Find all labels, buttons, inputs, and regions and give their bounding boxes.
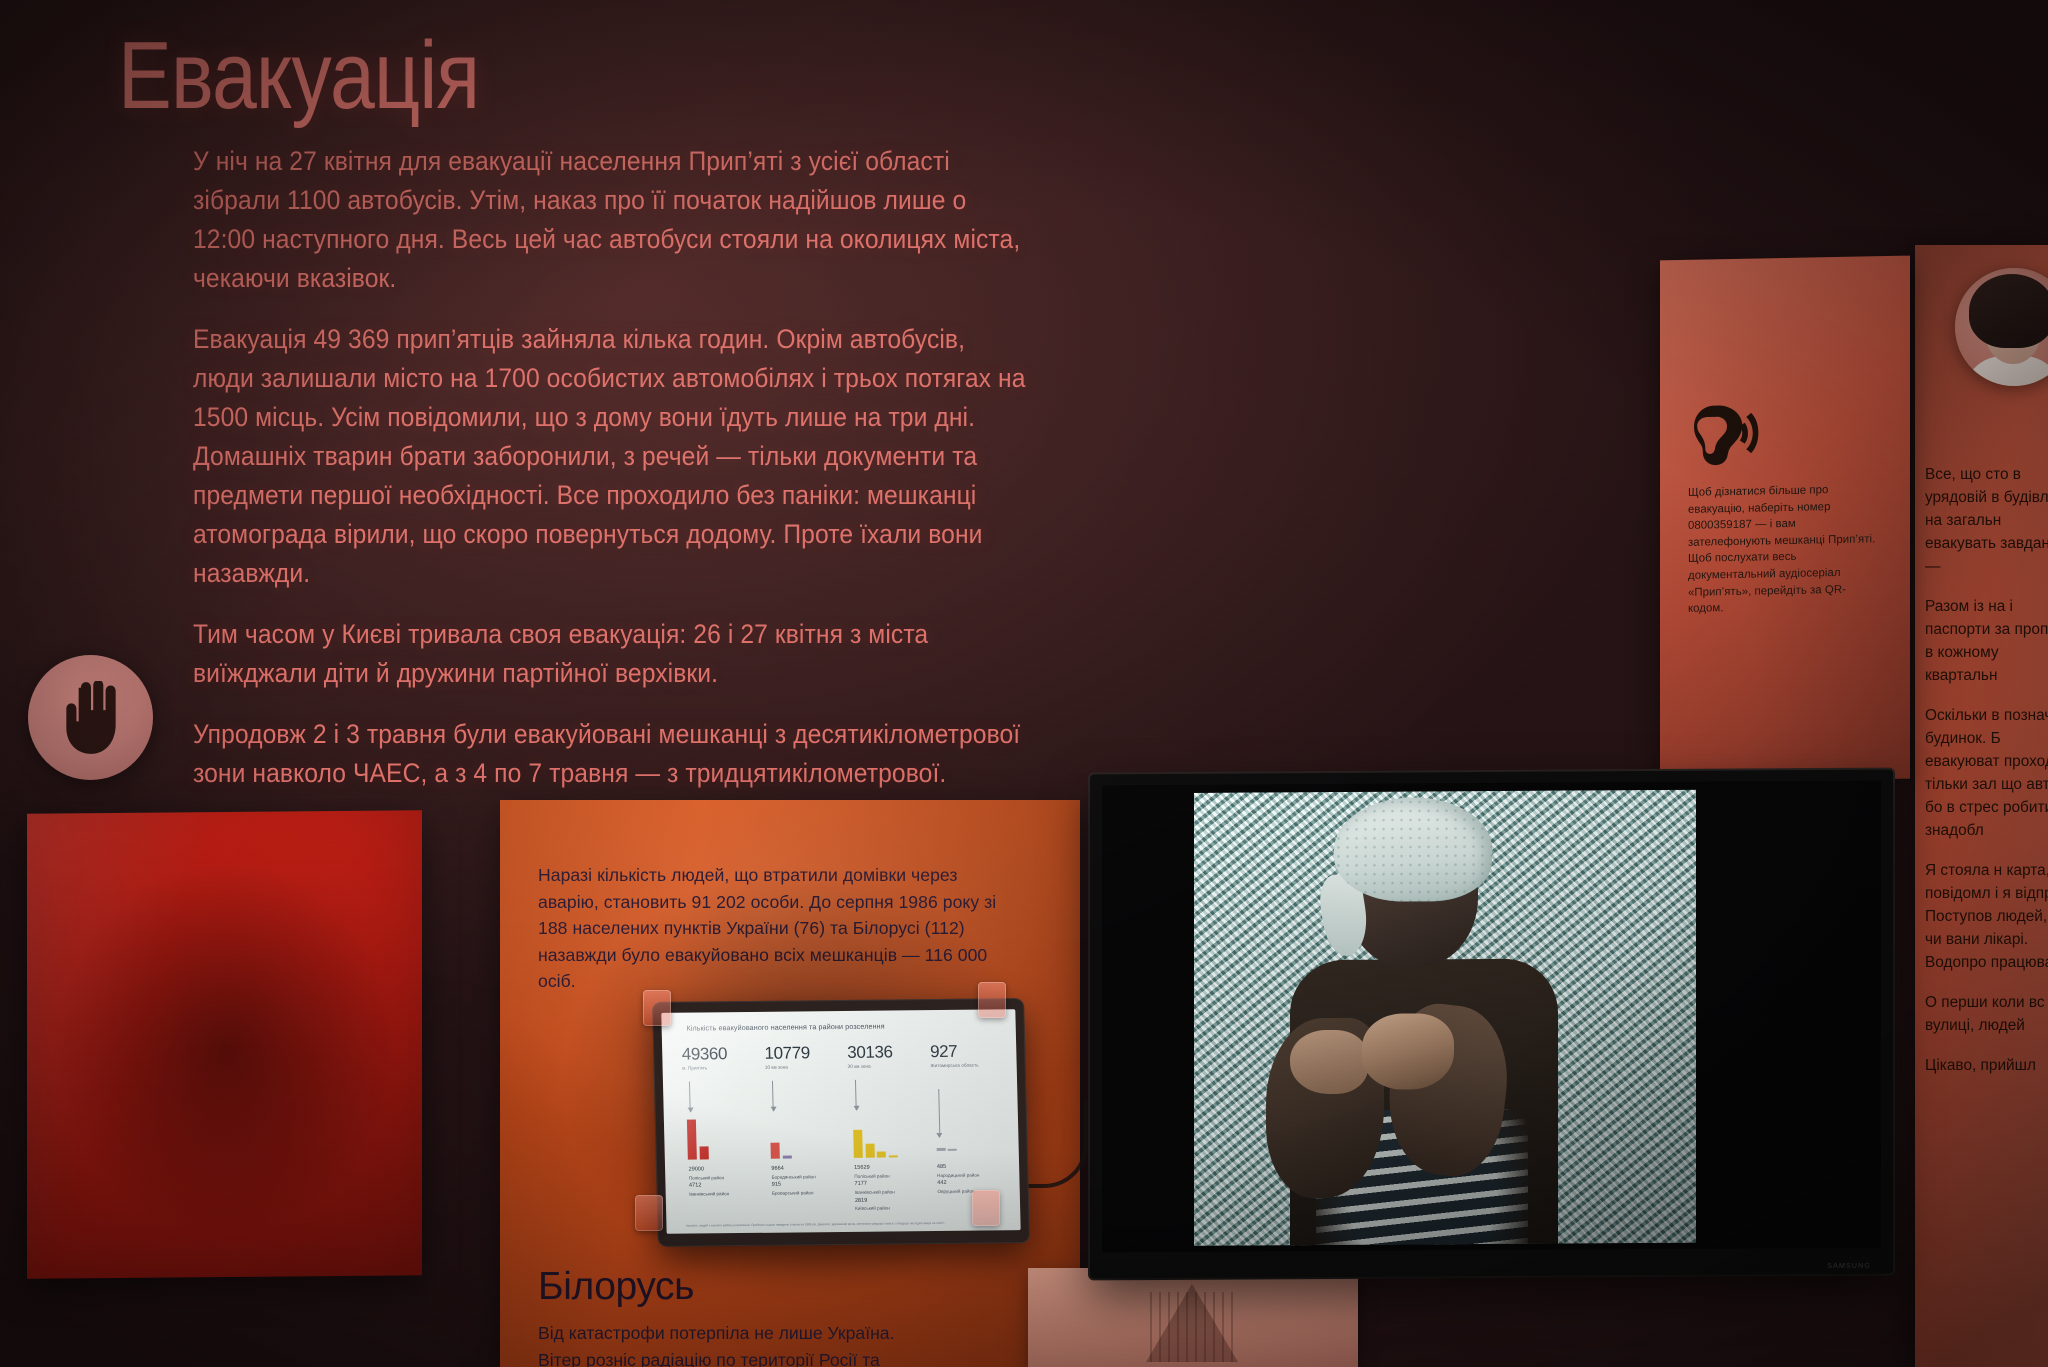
testimony-paragraph: Цікаво, прийшл bbox=[1925, 1054, 2048, 1077]
chart-values: 9664 Бородянський район 915 Броварський … bbox=[771, 1164, 816, 1197]
tablet-mount-clip bbox=[643, 990, 671, 1026]
wall-paragraph: Евакуація 49 369 прип’ятців зайняла кіль… bbox=[193, 320, 1030, 593]
chart-value: 915 bbox=[772, 1182, 781, 1188]
wall-monitor: SAMSUNG bbox=[1090, 770, 1893, 1279]
wall-paragraph: Тим часом у Києві тривала своя евакуація… bbox=[193, 615, 1030, 693]
chart-value-label: Бородянський район bbox=[771, 1174, 815, 1179]
page-title: Евакуація bbox=[118, 28, 479, 124]
chart-value: 442 bbox=[937, 1180, 946, 1186]
testimony-paragraph: Я стояла н карта, і повідомл і я відпра … bbox=[1925, 859, 2048, 974]
arrow-down-icon bbox=[772, 1081, 774, 1111]
right-testimony-text: Все, що сто в урядовій в будівлі мі на з… bbox=[1925, 463, 2048, 1094]
orange-panel-intro-text: Наразі кількість людей, що втратили домі… bbox=[538, 862, 1010, 995]
chart-bar bbox=[877, 1152, 886, 1158]
monitor-brand-label: SAMSUNG bbox=[1827, 1263, 1871, 1270]
chart-bars bbox=[853, 1118, 897, 1158]
avatar bbox=[1955, 268, 2048, 386]
stop-hand-icon bbox=[55, 681, 127, 755]
chart-bars bbox=[687, 1120, 708, 1160]
arrow-down-icon bbox=[938, 1089, 940, 1137]
belarus-body-text: Від катастрофи потерпіла не лише Україна… bbox=[538, 1320, 938, 1367]
chart-value: 7177 bbox=[854, 1181, 867, 1187]
chart-value-label: Народицький район bbox=[937, 1172, 979, 1177]
right-testimony-panel: Все, що сто в урядовій в будівлі мі на з… bbox=[1915, 245, 2048, 1367]
monitor-screen bbox=[1102, 781, 1881, 1253]
chart-total: 30136 bbox=[847, 1043, 923, 1061]
chart-value: 9664 bbox=[771, 1166, 784, 1172]
video-shading bbox=[1194, 790, 1696, 1246]
avatar-hair bbox=[1969, 274, 2048, 348]
chart-column: 49360 м. Прип’ять 29000 Поліський район … bbox=[682, 1045, 762, 1205]
chart-bars bbox=[770, 1119, 791, 1159]
chart-bar bbox=[853, 1130, 863, 1158]
chart-value-label: Броварський район bbox=[772, 1190, 814, 1195]
arrow-down-icon bbox=[855, 1080, 857, 1110]
audio-info-panel: Щоб дізнатися більше про евакуацію, набе… bbox=[1660, 256, 1910, 784]
testimony-paragraph: Все, що сто в урядовій в будівлі мі на з… bbox=[1925, 463, 2048, 578]
chart-bar bbox=[700, 1147, 709, 1160]
arrow-down-icon bbox=[689, 1082, 691, 1112]
cooling-tower-texture bbox=[1150, 1292, 1234, 1362]
tablet-screen[interactable]: Кількість евакуйованого населення та рай… bbox=[661, 1009, 1020, 1234]
wall-paragraph: У ніч на 27 квітня для евакуації населен… bbox=[193, 142, 1030, 298]
chart-column: 10779 10 км зона 9664 Бородянський район… bbox=[764, 1044, 844, 1204]
chart-value: 485 bbox=[937, 1164, 946, 1170]
chart-category: м. Прип’ять bbox=[682, 1065, 758, 1071]
tablet-mount-clip bbox=[978, 982, 1006, 1018]
chart-bar bbox=[771, 1143, 780, 1159]
chart-value-label: Поліський район bbox=[854, 1173, 889, 1178]
testimony-paragraph: О перши коли вс вулиці, людей bbox=[1925, 991, 2048, 1037]
tablet-mount-clip bbox=[972, 1190, 1000, 1226]
red-display-panel bbox=[27, 810, 422, 1278]
chart-footnote: Кількість людей з кожного району розселе… bbox=[686, 1220, 1006, 1228]
wall-body-text: У ніч на 27 квітня для евакуації населен… bbox=[193, 142, 1030, 793]
chart-value-label: Іванківський район bbox=[855, 1189, 895, 1194]
chart-value-label: Овруцький район bbox=[937, 1189, 974, 1194]
chart-bar bbox=[687, 1120, 697, 1160]
chart-total: 927 bbox=[930, 1042, 1006, 1060]
chart-value: 4712 bbox=[689, 1183, 702, 1189]
ear-listening-icon bbox=[1690, 403, 1764, 466]
testimony-paragraph: Разом із на і паспорти за прописк в кожн… bbox=[1925, 595, 2048, 687]
testimony-paragraph: Оскільки в позначки, будинок. Б евакуюва… bbox=[1925, 704, 2048, 842]
archival-video-frame bbox=[1194, 790, 1696, 1246]
do-not-touch-badge bbox=[28, 655, 153, 780]
chart-bar bbox=[888, 1156, 897, 1158]
exhibition-wall-scene: Евакуація У ніч на 27 квітня для евакуац… bbox=[0, 0, 2048, 1367]
chart-value: 15629 bbox=[854, 1165, 870, 1171]
chart-bar bbox=[865, 1144, 874, 1158]
chart-bar bbox=[936, 1148, 945, 1151]
chart-columns: 49360 м. Прип’ять 29000 Поліський район … bbox=[682, 1042, 1010, 1204]
chart-value-label: Поліський район bbox=[689, 1175, 724, 1180]
chart-values: 29000 Поліський район 4712 Іванківський … bbox=[688, 1165, 729, 1198]
chart-bar bbox=[948, 1149, 957, 1151]
audio-info-text: Щоб дізнатися більше про евакуацію, набе… bbox=[1688, 481, 1878, 617]
chart-bar bbox=[783, 1156, 792, 1159]
chart-value-label: Київський район bbox=[855, 1206, 890, 1211]
chart-total: 10779 bbox=[764, 1044, 840, 1062]
small-photo-placard bbox=[1028, 1268, 1358, 1367]
chart-value: 29000 bbox=[689, 1167, 705, 1173]
chart-value: 2819 bbox=[855, 1197, 868, 1203]
wall-paragraph: Упродовж 2 і 3 травня були евакуйовані м… bbox=[193, 715, 1030, 793]
chart-total: 49360 bbox=[682, 1045, 758, 1063]
chart-bars bbox=[936, 1143, 957, 1151]
chart-category: 10 км зона bbox=[765, 1064, 841, 1070]
chart-column: 30136 30 км зона 15629 Поліський район 7… bbox=[847, 1043, 927, 1203]
chart-values: 15629 Поліський район 7177 Іванківський … bbox=[854, 1164, 895, 1213]
tablet-mount-clip bbox=[635, 1195, 663, 1231]
chart-category: Житомирська область bbox=[930, 1062, 1006, 1068]
chart-column: 927 Житомирська область 485 Народицький … bbox=[930, 1042, 1010, 1202]
chart-value-label: Іванківський район bbox=[689, 1191, 729, 1196]
belarus-heading: Білорусь bbox=[538, 1267, 694, 1306]
chart-title: Кількість евакуйованого населення та рай… bbox=[686, 1020, 1001, 1032]
chart-category: 30 км зона bbox=[848, 1063, 924, 1069]
